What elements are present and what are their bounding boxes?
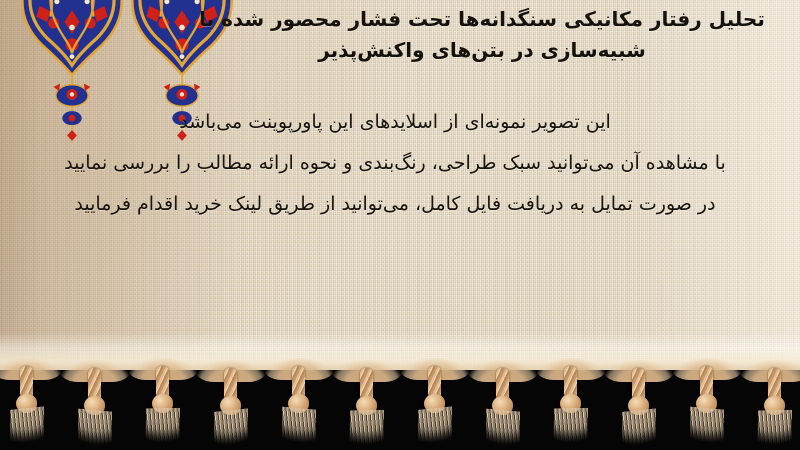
fringe-skirt <box>553 408 588 445</box>
carpet-fringe <box>0 358 800 450</box>
fringe-tassel <box>752 360 798 446</box>
slide-body: این تصویر نمونه‌ای از اسلایدهای این پاور… <box>30 102 760 225</box>
fringe-tassel <box>412 358 458 444</box>
fringe-tassel <box>208 360 254 446</box>
fringe-skirt <box>282 407 316 446</box>
fringe-skirt <box>78 409 112 448</box>
title-line-2: شبیه‌سازی در بتن‌های واکنش‌پذیر <box>182 35 782 66</box>
body-line-3: در صورت تمایل به دریافت فایل کامل، می‌تو… <box>30 184 760 225</box>
fringe-tassel <box>616 360 662 446</box>
body-line-2: با مشاهده آن می‌توانید سبک طراحی، رنگ‌بن… <box>30 143 760 184</box>
fringe-skirt <box>10 406 44 446</box>
fringe-tassel <box>4 358 50 444</box>
fringe-skirt <box>214 408 248 448</box>
presentation-slide: تحلیل رفتار مکانیکی سنگدانه‌ها تحت فشار … <box>0 0 800 450</box>
fringe-tassel <box>140 358 186 444</box>
slide-title: تحلیل رفتار مکانیکی سنگدانه‌ها تحت فشار … <box>182 4 782 66</box>
fringe-tassel <box>344 360 390 446</box>
fringe-tassel <box>72 360 118 446</box>
fringe-tassel <box>276 358 322 444</box>
fringe-tassel <box>548 358 594 444</box>
title-line-1: تحلیل رفتار مکانیکی سنگدانه‌ها تحت فشار … <box>182 4 782 35</box>
fringe-skirt <box>690 407 724 446</box>
fringe-skirt <box>622 408 656 448</box>
fringe-skirt <box>145 408 180 445</box>
fringe-skirt <box>349 410 384 447</box>
fringe-tassel <box>480 360 526 446</box>
fringe-tassel <box>684 358 730 444</box>
fringe-skirt <box>418 406 452 446</box>
body-line-1: این تصویر نمونه‌ای از اسلایدهای این پاور… <box>30 102 760 143</box>
fringe-skirt <box>757 410 792 447</box>
fringe-skirt <box>486 409 520 448</box>
